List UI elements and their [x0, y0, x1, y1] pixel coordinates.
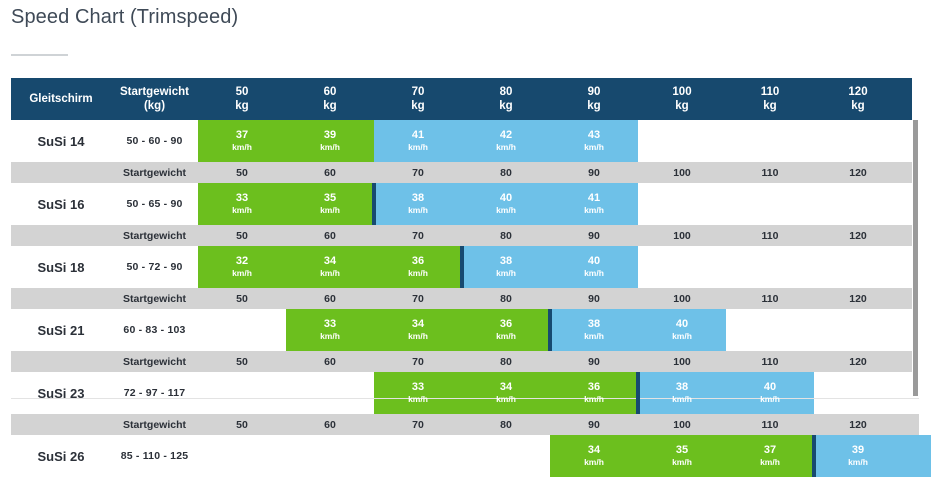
scale-row-value-text: 70 — [412, 167, 424, 179]
scale-row: Startgewicht5060708090100110120 — [11, 351, 919, 372]
glider-name: SuSi 23 — [11, 372, 111, 414]
speed-value-cell: 35km/h — [638, 435, 726, 477]
speed-value-cell: 34km/h — [550, 435, 638, 477]
speed-unit: km/h — [496, 143, 516, 152]
scale-row-value-text: 120 — [849, 167, 867, 179]
header-weight-unit-50: kg — [235, 99, 248, 113]
speed-unit: km/h — [320, 143, 340, 152]
speed-value: 38 — [588, 319, 600, 331]
scale-row-value: 70 — [374, 351, 462, 372]
glider-name: SuSi 26 — [11, 435, 111, 477]
table-row: SuSi 1650 - 65 - 9033km/h35km/h38km/h40k… — [11, 183, 919, 225]
table-row: SuSi 2685 - 110 - 12534km/h35km/h37km/h3… — [11, 435, 919, 477]
header-cell-startgewicht: Startgewicht(kg) — [111, 78, 198, 120]
speed-value: 37 — [236, 130, 248, 142]
speed-value-cell: 33km/h — [286, 309, 374, 351]
speed-chart-table: GleitschirmStartgewicht(kg)50kg60kg70kg8… — [11, 78, 919, 398]
scale-row-value-text: 60 — [324, 293, 336, 305]
scale-row-value: 60 — [286, 414, 374, 435]
scale-row-value: 60 — [286, 288, 374, 309]
scale-row-value: 70 — [374, 288, 462, 309]
scale-row-value: 60 — [286, 351, 374, 372]
scale-row-value-text: 60 — [324, 230, 336, 242]
speed-value: 34 — [324, 256, 336, 268]
speed-unit: km/h — [408, 143, 428, 152]
speed-value-cell: 40km/h — [550, 246, 638, 288]
scale-row-value-text: 70 — [412, 356, 424, 368]
scale-row-value-text: 80 — [500, 419, 512, 431]
speed-value-cell: 36km/h — [374, 246, 462, 288]
speed-value: 41 — [588, 193, 600, 205]
glider-weight-range-text: 50 - 60 - 90 — [126, 135, 182, 147]
scale-row: Startgewicht5060708090100110120 — [11, 225, 919, 246]
speed-unit: km/h — [496, 395, 516, 404]
scale-row-value: 70 — [374, 225, 462, 246]
scale-row-value-text: 50 — [236, 293, 248, 305]
speed-unit: km/h — [408, 206, 428, 215]
scale-row: Startgewicht5060708090100110120 — [11, 288, 919, 309]
table-row: SuSi 2160 - 83 - 10333km/h34km/h36km/h38… — [11, 309, 919, 351]
header-cell-weight-120: 120kg — [814, 78, 902, 120]
scale-row-value: 90 — [550, 225, 638, 246]
glider-weight-range: 72 - 97 - 117 — [111, 372, 198, 414]
glider-name-text: SuSi 16 — [38, 197, 85, 212]
scale-row-value-text: 80 — [500, 356, 512, 368]
glider-weight-range-text: 72 - 97 - 117 — [124, 387, 186, 399]
speed-value: 43 — [588, 130, 600, 142]
scale-row-value: 50 — [198, 288, 286, 309]
scale-row-value-text: 70 — [412, 230, 424, 242]
scale-row-value-text: 110 — [762, 293, 779, 305]
speed-unit: km/h — [672, 458, 692, 467]
scale-row-label: Startgewicht — [111, 288, 198, 309]
speed-unit: km/h — [848, 458, 868, 467]
speed-value-cell: 35km/h — [286, 183, 374, 225]
speed-value-cell: 39km/h — [286, 120, 374, 162]
table-row: SuSi 1450 - 60 - 9037km/h39km/h41km/h42k… — [11, 120, 919, 162]
speed-value-cell: 36km/h — [462, 309, 550, 351]
scale-row-value: 120 — [814, 414, 902, 435]
glider-name-text: SuSi 26 — [38, 449, 85, 464]
scale-row-value-text: 100 — [673, 230, 691, 242]
speed-value: 40 — [500, 193, 512, 205]
glider-weight-range: 50 - 72 - 90 — [111, 246, 198, 288]
scale-row-value: 100 — [638, 288, 726, 309]
speed-value-cell: 33km/h — [374, 372, 462, 414]
scale-row: Startgewicht5060708090100110120 — [11, 414, 919, 435]
header-weight-unit-80: kg — [499, 99, 512, 113]
header-cell-weight-110: 110kg — [726, 78, 814, 120]
speed-unit: km/h — [496, 332, 516, 341]
scale-row-value-text: 70 — [412, 293, 424, 305]
glider-name: SuSi 16 — [11, 183, 111, 225]
speed-value-cell: 40km/h — [902, 435, 931, 477]
speed-value: 40 — [676, 319, 688, 331]
scale-row-value: 60 — [286, 225, 374, 246]
glider-weight-range: 50 - 60 - 90 — [111, 120, 198, 162]
scale-row-value: 90 — [550, 351, 638, 372]
scale-row-value-text: 110 — [762, 230, 779, 242]
header-cell-weight-90: 90kg — [550, 78, 638, 120]
scale-row-value-text: 70 — [412, 419, 424, 431]
speed-value-cell: 40km/h — [638, 309, 726, 351]
speed-chart-page: Speed Chart (Trimspeed) GleitschirmStart… — [0, 0, 931, 401]
header-weight-value-70: 70kg — [411, 85, 424, 113]
glider-weight-range: 50 - 65 - 90 — [111, 183, 198, 225]
scale-row-value: 110 — [726, 288, 814, 309]
scale-row-value-text: 90 — [588, 167, 600, 179]
speed-value: 40 — [764, 382, 776, 394]
scale-row-value-text: 60 — [324, 356, 336, 368]
scale-row-value-text: 60 — [324, 419, 336, 431]
scale-row-value-text: 90 — [588, 419, 600, 431]
speed-value-cell: 36km/h — [550, 372, 638, 414]
scale-row-value: 70 — [374, 414, 462, 435]
speed-value: 42 — [500, 130, 512, 142]
scale-row-label: Startgewicht — [111, 414, 198, 435]
glider-name-text: SuSi 23 — [38, 386, 85, 401]
scale-row-value: 100 — [638, 225, 726, 246]
speed-unit: km/h — [584, 269, 604, 278]
scale-row-value-text: 50 — [236, 419, 248, 431]
scale-row-value: 90 — [550, 414, 638, 435]
header-label-gleitschirm: Gleitschirm — [29, 92, 92, 106]
table-row: SuSi 2372 - 97 - 11733km/h34km/h36km/h38… — [11, 372, 919, 414]
page-title: Speed Chart (Trimspeed) — [11, 6, 238, 29]
glider-name-text: SuSi 18 — [38, 260, 85, 275]
header-weight-value-80: 80kg — [499, 85, 512, 113]
scale-row-value: 100 — [638, 351, 726, 372]
scale-row-value: 120 — [814, 225, 902, 246]
scale-row-value: 120 — [814, 162, 902, 183]
scale-row-value: 80 — [462, 414, 550, 435]
speed-value-cell: 43km/h — [550, 120, 638, 162]
scale-row-value: 90 — [550, 162, 638, 183]
scale-row-value-text: 50 — [236, 356, 248, 368]
scale-row-label: Startgewicht — [111, 162, 198, 183]
table-grid: GleitschirmStartgewicht(kg)50kg60kg70kg8… — [11, 78, 919, 398]
scale-row-label-text: Startgewicht — [123, 167, 186, 179]
header-weight-unit-100: kg — [672, 99, 691, 113]
scale-row-value-text: 90 — [588, 230, 600, 242]
speed-value-cell: 38km/h — [462, 246, 550, 288]
header-weight-value-90: 90kg — [587, 85, 600, 113]
speed-value: 35 — [676, 445, 688, 457]
scale-row-value-text: 80 — [500, 167, 512, 179]
speed-unit: km/h — [408, 269, 428, 278]
scale-row-value: 80 — [462, 225, 550, 246]
glider-name: SuSi 21 — [11, 309, 111, 351]
scale-row-value-text: 110 — [762, 419, 779, 431]
scale-row-value-text: 100 — [673, 293, 691, 305]
speed-value-cell: 40km/h — [726, 372, 814, 414]
glider-weight-range-text: 50 - 72 - 90 — [126, 261, 182, 273]
scale-row-value-text: 110 — [762, 356, 779, 368]
scale-row-label-text: Startgewicht — [123, 230, 186, 242]
speed-value-cell: 37km/h — [198, 120, 286, 162]
header-weight-value-120: 120kg — [848, 85, 867, 113]
speed-unit: km/h — [408, 332, 428, 341]
speed-value-cell: 39km/h — [814, 435, 902, 477]
scale-row-value-text: 60 — [324, 167, 336, 179]
scale-row-value: 50 — [198, 351, 286, 372]
speed-unit: km/h — [584, 395, 604, 404]
scale-row-value-text: 120 — [849, 230, 867, 242]
glider-name-text: SuSi 21 — [38, 323, 85, 338]
speed-unit: km/h — [672, 332, 692, 341]
header-cell-weight-60: 60kg — [286, 78, 374, 120]
speed-value: 34 — [412, 319, 424, 331]
scale-row-value-text: 110 — [762, 167, 779, 179]
speed-value-cell: 40km/h — [462, 183, 550, 225]
speed-unit: km/h — [320, 269, 340, 278]
speed-value: 37 — [764, 445, 776, 457]
speed-unit: km/h — [232, 269, 252, 278]
speed-value-cell: 38km/h — [638, 372, 726, 414]
speed-unit: km/h — [320, 206, 340, 215]
scale-row-label: Startgewicht — [111, 225, 198, 246]
glider-weight-range-text: 50 - 65 - 90 — [126, 198, 182, 210]
header-weight-value-50: 50kg — [235, 85, 248, 113]
speed-value: 33 — [236, 193, 248, 205]
scale-row-value-text: 80 — [500, 293, 512, 305]
speed-value-cell: 41km/h — [374, 120, 462, 162]
glider-weight-range-text: 85 - 110 - 125 — [121, 450, 189, 462]
scale-row-value: 110 — [726, 162, 814, 183]
speed-unit: km/h — [584, 143, 604, 152]
speed-value: 36 — [412, 256, 424, 268]
speed-unit: km/h — [760, 395, 780, 404]
scale-row-value: 100 — [638, 162, 726, 183]
header-label-startgewicht: Startgewicht(kg) — [120, 85, 189, 113]
speed-value: 39 — [852, 445, 864, 457]
speed-unit: km/h — [584, 206, 604, 215]
header-cell-weight-50: 50kg — [198, 78, 286, 120]
speed-value: 35 — [324, 193, 336, 205]
speed-unit: km/h — [408, 395, 428, 404]
glider-name-text: SuSi 14 — [38, 134, 85, 149]
speed-value: 34 — [500, 382, 512, 394]
scale-row-label-text: Startgewicht — [123, 356, 186, 368]
scale-row-value: 50 — [198, 225, 286, 246]
header-weight-unit-110: kg — [761, 99, 780, 113]
speed-value-cell: 34km/h — [286, 246, 374, 288]
speed-value: 40 — [588, 256, 600, 268]
scale-row-value-text: 50 — [236, 167, 248, 179]
table-header-row: GleitschirmStartgewicht(kg)50kg60kg70kg8… — [11, 78, 919, 120]
speed-unit: km/h — [320, 332, 340, 341]
glider-weight-range: 60 - 83 - 103 — [111, 309, 198, 351]
speed-value: 34 — [588, 445, 600, 457]
scale-row-value: 80 — [462, 288, 550, 309]
scale-row-value: 110 — [726, 225, 814, 246]
scale-row-label: Startgewicht — [111, 351, 198, 372]
header-weight-value-110: 110kg — [761, 85, 780, 113]
scale-row-value-text: 100 — [673, 356, 691, 368]
header-weight-unit-70: kg — [411, 99, 424, 113]
title-divider — [11, 54, 68, 56]
glider-name: SuSi 14 — [11, 120, 111, 162]
speed-value-cell: 38km/h — [374, 183, 462, 225]
speed-unit: km/h — [584, 458, 604, 467]
table-row: SuSi 1850 - 72 - 9032km/h34km/h36km/h38k… — [11, 246, 919, 288]
scale-row-value-text: 100 — [673, 419, 691, 431]
header-weight-unit-60: kg — [323, 99, 336, 113]
header-cell-weight-80: 80kg — [462, 78, 550, 120]
speed-value: 41 — [412, 130, 424, 142]
header-weight-unit-120: kg — [848, 99, 867, 113]
speed-unit: km/h — [496, 269, 516, 278]
speed-value: 38 — [676, 382, 688, 394]
scale-row-label-text: Startgewicht — [123, 293, 186, 305]
scale-row: Startgewicht5060708090100110120 — [11, 162, 919, 183]
header-weight-value-60: 60kg — [323, 85, 336, 113]
scale-row-value: 120 — [814, 288, 902, 309]
scale-row-value-text: 100 — [673, 167, 691, 179]
speed-value: 39 — [324, 130, 336, 142]
scale-row-value: 60 — [286, 162, 374, 183]
scale-row-value: 80 — [462, 162, 550, 183]
speed-value-cell: 33km/h — [198, 183, 286, 225]
scale-row-value: 90 — [550, 288, 638, 309]
speed-value: 36 — [500, 319, 512, 331]
scale-row-label-text: Startgewicht — [123, 419, 186, 431]
speed-value-cell: 34km/h — [462, 372, 550, 414]
speed-value: 33 — [324, 319, 336, 331]
speed-value-cell: 37km/h — [726, 435, 814, 477]
glider-name: SuSi 18 — [11, 246, 111, 288]
scale-row-value: 100 — [638, 414, 726, 435]
speed-unit: km/h — [496, 206, 516, 215]
scale-row-value: 70 — [374, 162, 462, 183]
scale-row-value-text: 120 — [849, 293, 867, 305]
speed-value: 32 — [236, 256, 248, 268]
header-weight-value-100: 100kg — [672, 85, 691, 113]
speed-unit: km/h — [672, 395, 692, 404]
glider-weight-range-text: 60 - 83 - 103 — [123, 324, 185, 336]
scale-row-value: 50 — [198, 414, 286, 435]
speed-unit: km/h — [232, 143, 252, 152]
scale-row-value: 110 — [726, 414, 814, 435]
header-cell-weight-100: 100kg — [638, 78, 726, 120]
speed-value-cell: 38km/h — [550, 309, 638, 351]
speed-value: 38 — [412, 193, 424, 205]
header-cell-gleitschirm: Gleitschirm — [11, 78, 111, 120]
header-cell-weight-70: 70kg — [374, 78, 462, 120]
scale-row-value-text: 80 — [500, 230, 512, 242]
speed-value-cell: 42km/h — [462, 120, 550, 162]
speed-unit: km/h — [232, 206, 252, 215]
scale-row-value: 50 — [198, 162, 286, 183]
speed-value: 36 — [588, 382, 600, 394]
speed-value-cell: 32km/h — [198, 246, 286, 288]
scale-row-value: 80 — [462, 351, 550, 372]
header-weight-unit-90: kg — [587, 99, 600, 113]
header-label-startgewicht-unit: (kg) — [120, 99, 189, 113]
speed-value: 38 — [500, 256, 512, 268]
speed-value-cell: 34km/h — [374, 309, 462, 351]
scale-row-value-text: 50 — [236, 230, 248, 242]
speed-unit: km/h — [584, 332, 604, 341]
glider-weight-range: 85 - 110 - 125 — [111, 435, 198, 477]
scale-row-value-text: 90 — [588, 293, 600, 305]
scale-row-value-text: 90 — [588, 356, 600, 368]
speed-value-cell: 41km/h — [550, 183, 638, 225]
scale-row-value: 120 — [814, 351, 902, 372]
scale-row-value-text: 120 — [849, 356, 867, 368]
scale-row-value-text: 120 — [849, 419, 867, 431]
scale-row-value: 110 — [726, 351, 814, 372]
speed-unit: km/h — [760, 458, 780, 467]
speed-value: 33 — [412, 382, 424, 394]
